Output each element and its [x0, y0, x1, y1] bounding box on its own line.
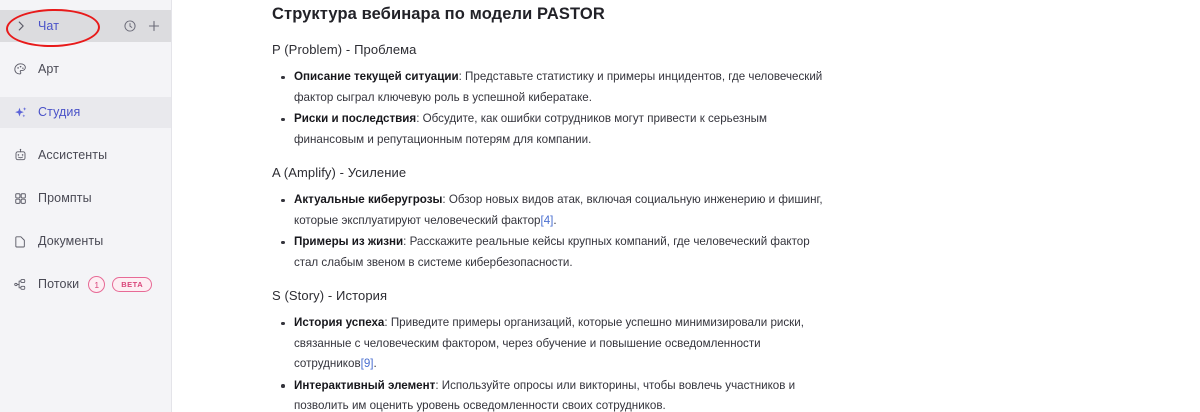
citation-link[interactable]: [9]: [361, 357, 374, 370]
sidebar-item-studio[interactable]: Студия: [0, 97, 171, 128]
sidebar-item-chat[interactable]: Чат: [0, 10, 171, 42]
content-area: Структура вебинара по модели PASTOR P (P…: [172, 0, 1200, 412]
list-item: Описание текущей ситуации: Представьте с…: [294, 67, 832, 108]
chat-row-actions: [123, 19, 161, 33]
document-body: Структура вебинара по модели PASTOR P (P…: [272, 0, 832, 412]
sidebar-item-documents[interactable]: Документы: [0, 226, 171, 257]
list-item-tail: .: [374, 357, 377, 370]
sidebar-item-label-chat: Чат: [38, 20, 59, 33]
sidebar-item-label-flows: Потоки: [38, 278, 79, 291]
flows-count-badge: 1: [88, 276, 105, 293]
bullet-list: История успеха: Приведите примеры органи…: [272, 313, 832, 412]
page-title: Структура вебинара по модели PASTOR: [272, 5, 832, 24]
list-item: История успеха: Приведите примеры органи…: [294, 313, 832, 375]
palette-icon: [12, 61, 29, 78]
sidebar-item-prompts[interactable]: Промпты: [0, 183, 171, 214]
section-heading: A (Amplify) - Усиление: [272, 165, 832, 180]
clock-icon[interactable]: [123, 19, 137, 33]
section-heading: P (Problem) - Проблема: [272, 42, 832, 57]
grid-squares-icon: [12, 190, 29, 207]
list-item-tail: .: [553, 214, 556, 227]
list-item: Актуальные киберугрозы: Обзор новых видо…: [294, 190, 832, 231]
sparkle-icon: [12, 104, 29, 121]
section-story: S (Story) - История История успеха: Прив…: [272, 288, 832, 412]
list-item-lead: Примеры из жизни: [294, 235, 403, 248]
flows-beta-badge: BETA: [112, 277, 152, 292]
list-item-lead: Риски и последствия: [294, 112, 416, 125]
section-heading: S (Story) - История: [272, 288, 832, 303]
sidebar-item-label-art: Арт: [38, 63, 59, 76]
section-amplify: A (Amplify) - Усиление Актуальные киберу…: [272, 165, 832, 273]
document-icon: [12, 233, 29, 250]
robot-icon: [12, 147, 29, 164]
plus-icon[interactable]: [147, 19, 161, 33]
list-item-lead: Интерактивный элемент: [294, 379, 435, 392]
bullet-list: Актуальные киберугрозы: Обзор новых видо…: [272, 190, 832, 273]
sidebar-item-label-studio: Студия: [38, 106, 80, 119]
list-item: Интерактивный элемент: Используйте опрос…: [294, 376, 832, 412]
chevron-right-icon: [12, 18, 29, 35]
list-item: Примеры из жизни: Расскажите реальные ке…: [294, 232, 832, 273]
citation-link[interactable]: [4]: [541, 214, 554, 227]
list-item: Риски и последствия: Обсудите, как ошибк…: [294, 109, 832, 150]
sidebar-item-flows[interactable]: Потоки 1 BETA: [0, 269, 171, 300]
list-item-lead: Описание текущей ситуации: [294, 70, 459, 83]
sidebar-item-assistants[interactable]: Ассистенты: [0, 140, 171, 171]
app-root: Чат: [0, 0, 1200, 412]
sidebar: Чат: [0, 0, 172, 412]
section-problem: P (Problem) - Проблема Описание текущей …: [272, 42, 832, 150]
sidebar-item-label-prompts: Промпты: [38, 192, 92, 205]
list-item-lead: История успеха: [294, 316, 384, 329]
flow-nodes-icon: [12, 276, 29, 293]
bullet-list: Описание текущей ситуации: Представьте с…: [272, 67, 832, 150]
sidebar-item-label-assistants: Ассистенты: [38, 149, 107, 162]
sidebar-item-art[interactable]: Арт: [0, 54, 171, 85]
list-item-lead: Актуальные киберугрозы: [294, 193, 442, 206]
sidebar-item-label-documents: Документы: [38, 235, 103, 248]
